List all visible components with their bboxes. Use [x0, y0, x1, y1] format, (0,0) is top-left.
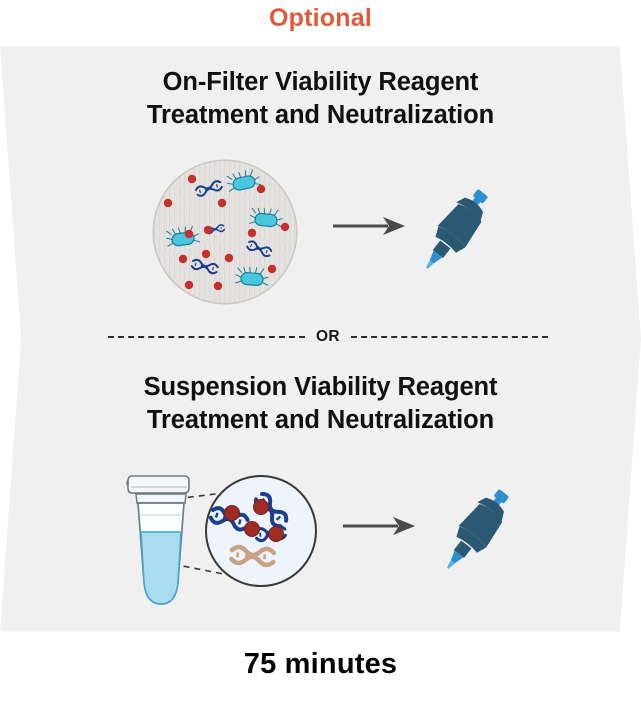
branch-title-line-1: On-Filter Viability Reagent [0, 66, 641, 99]
optional-badge: Optional [0, 4, 641, 33]
workflow-diagram: Optional On-Filter Viability Reagent Tre… [0, 0, 641, 701]
pipette-icon-bottom [425, 482, 529, 578]
divider-label: OR [316, 328, 340, 346]
process-arrow-top [333, 213, 407, 239]
branch-divider: OR [108, 326, 548, 348]
magnified-circle-icon [200, 472, 322, 590]
microcentrifuge-tube-icon [118, 470, 210, 616]
process-arrow-bottom [343, 513, 417, 539]
duration-label: 75 minutes [0, 648, 641, 681]
branch-title-line-2: Treatment and Neutralization [0, 99, 641, 132]
branch-title-on-filter: On-Filter Viability Reagent Treatment an… [0, 66, 641, 131]
divider-dash-right [351, 336, 548, 338]
branch-title-suspension: Suspension Viability Reagent Treatment a… [0, 371, 641, 436]
pipette-icon-top [404, 182, 508, 278]
filter-membrane-icon [148, 157, 302, 307]
branch-title-line-2: Treatment and Neutralization [0, 404, 641, 437]
branch-title-line-1: Suspension Viability Reagent [0, 371, 641, 404]
divider-dash-left [108, 336, 305, 338]
